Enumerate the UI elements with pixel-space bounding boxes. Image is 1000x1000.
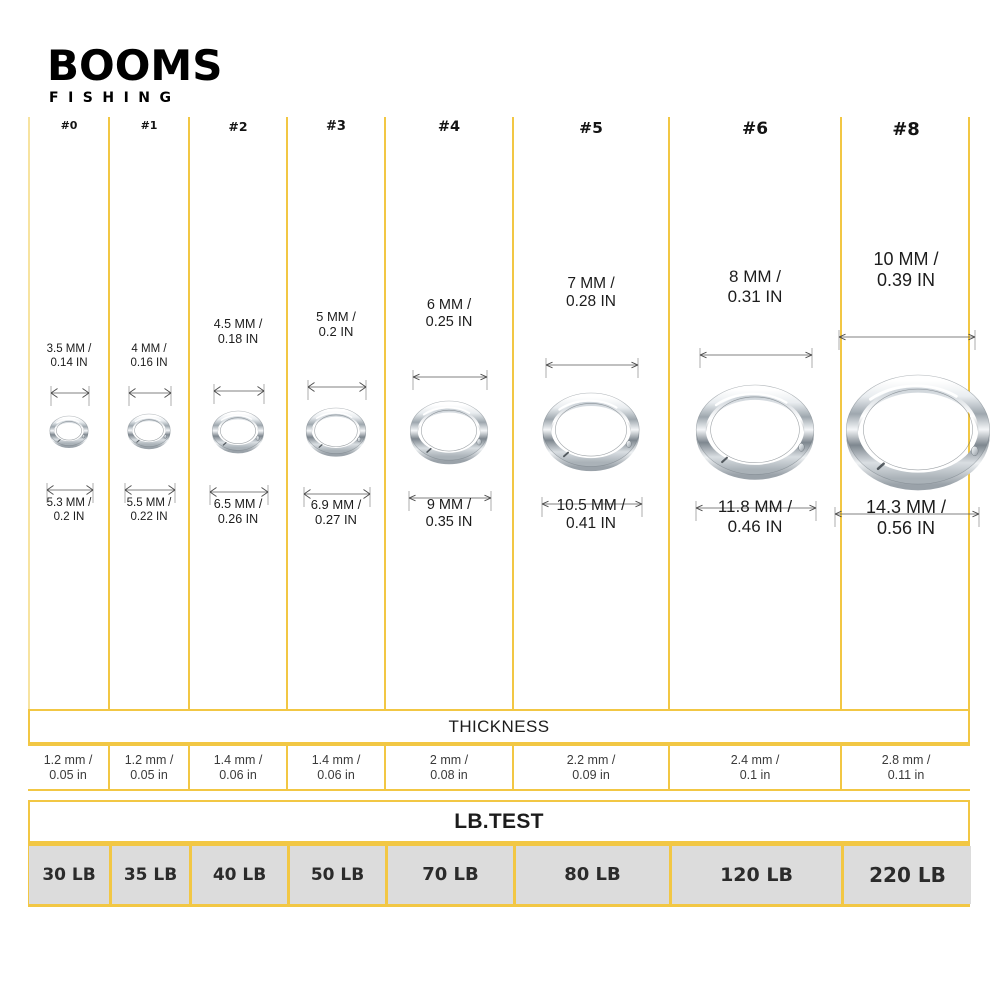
inner-diameter-label: 3.5 MM / 0.14 IN: [30, 343, 108, 370]
lbtest-cell: 80 LB: [513, 846, 669, 904]
outer-diameter-label: 6.5 MM / 0.26 IN: [190, 497, 286, 527]
inner-diameter-dimension-line: [838, 329, 976, 352]
lbtest-cell: 30 LB: [29, 846, 109, 904]
inner-diameter-label: 4.5 MM / 0.18 IN: [190, 317, 286, 347]
lbtest-cell: 40 LB: [189, 846, 287, 904]
lbtest-cell: 220 LB: [841, 846, 971, 904]
column-header: #3: [288, 119, 384, 134]
size-column-6[interactable]: #68 MM / 0.31 IN: [668, 117, 840, 709]
split-ring-illustration: [190, 401, 286, 463]
outer-diameter-label: 14.3 MM / 0.56 IN: [842, 497, 970, 539]
outer-diameter-label: 10.5 MM / 0.41 IN: [514, 497, 668, 534]
lbtest-cell: 70 LB: [385, 846, 513, 904]
size-column-1[interactable]: #14 MM / 0.16 IN: [108, 117, 188, 709]
outer-diameter-label: 9 MM / 0.35 IN: [386, 497, 512, 531]
inner-diameter-label: 6 MM / 0.25 IN: [386, 297, 512, 331]
split-ring-illustration: [30, 406, 108, 458]
inner-diameter-label: 8 MM / 0.31 IN: [670, 267, 840, 307]
split-ring-illustration: [288, 398, 384, 466]
thickness-row-title: THICKNESS: [28, 709, 970, 744]
column-header: #2: [190, 119, 286, 134]
inner-diameter-label: 5 MM / 0.2 IN: [288, 309, 384, 340]
inner-diameter-dimension-line: [50, 385, 90, 408]
brand-name: BOOMS: [47, 45, 307, 87]
inner-diameter-label: 7 MM / 0.28 IN: [514, 275, 668, 312]
lbtest-cell: 120 LB: [669, 846, 841, 904]
split-ring-illustration: [670, 375, 840, 489]
size-column-2[interactable]: #24.5 MM / 0.18 IN: [188, 117, 286, 709]
thickness-cell: 1.2 mm / 0.05 in: [28, 746, 108, 789]
outer-diameter-label: 5.3 MM / 0.2 IN: [30, 497, 108, 524]
thickness-cell: 2.2 mm / 0.09 in: [512, 746, 668, 789]
column-header: #4: [386, 119, 512, 135]
split-ring-illustration: [110, 404, 188, 459]
outer-diameter-label: 6.9 MM / 0.27 IN: [288, 497, 384, 528]
thickness-cell: 1.4 mm / 0.06 in: [286, 746, 384, 789]
brand-tagline: FISHING: [47, 89, 307, 107]
column-header: #6: [670, 119, 840, 139]
lbtest-row-title: LB.TEST: [28, 800, 970, 843]
lbtest-values-row: 30 LB35 LB40 LB50 LB70 LB80 LB120 LB220 …: [28, 843, 970, 907]
outer-diameter-label: 5.5 MM / 0.22 IN: [110, 497, 188, 524]
brand-logo: BOOMS FISHING: [47, 45, 307, 107]
size-column-4[interactable]: #46 MM / 0.25 IN: [384, 117, 512, 709]
column-header: #0: [30, 119, 108, 132]
thickness-cell: 2 mm / 0.08 in: [384, 746, 512, 789]
size-column-3[interactable]: #35 MM / 0.2 IN: [286, 117, 384, 709]
split-ring-illustration: [842, 365, 970, 500]
column-header: #1: [110, 119, 188, 132]
size-chart-grid: #03.5 MM / 0.14 IN: [28, 117, 970, 709]
inner-diameter-dimension-line: [545, 357, 639, 380]
inner-diameter-label: 4 MM / 0.16 IN: [110, 343, 188, 370]
split-ring-illustration: [386, 391, 512, 474]
thickness-cell: 1.2 mm / 0.05 in: [108, 746, 188, 789]
thickness-cell: 2.8 mm / 0.11 in: [840, 746, 970, 789]
size-column-0[interactable]: #03.5 MM / 0.14 IN: [28, 117, 108, 709]
split-ring-illustration: [514, 383, 668, 481]
lbtest-cell: 35 LB: [109, 846, 189, 904]
outer-diameter-label: 11.8 MM / 0.46 IN: [670, 497, 840, 537]
inner-diameter-dimension-line: [699, 347, 813, 370]
thickness-cell: 2.4 mm / 0.1 in: [668, 746, 840, 789]
size-column-8[interactable]: #810 MM / 0.39 IN: [840, 117, 970, 709]
size-column-5[interactable]: #57 MM / 0.28 IN: [512, 117, 668, 709]
thickness-values-row: 1.2 mm / 0.05 in1.2 mm / 0.05 in1.4 mm /…: [28, 744, 970, 791]
thickness-cell: 1.4 mm / 0.06 in: [188, 746, 286, 789]
inner-diameter-dimension-line: [412, 369, 488, 392]
inner-diameter-label: 10 MM / 0.39 IN: [842, 249, 970, 291]
column-header: #5: [514, 119, 668, 137]
lbtest-cell: 50 LB: [287, 846, 385, 904]
column-header: #8: [842, 119, 970, 140]
